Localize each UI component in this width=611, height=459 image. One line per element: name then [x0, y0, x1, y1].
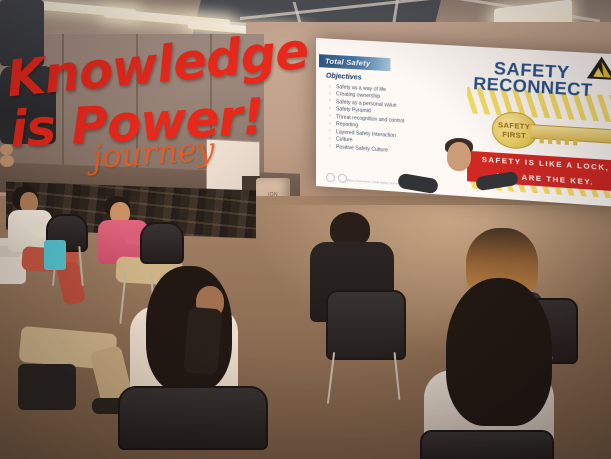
- wall-seam: [62, 34, 64, 184]
- slide-logo-group: [326, 173, 347, 183]
- photo-screenshot: ION Total Safety Culture Objectives Safe…: [0, 0, 611, 459]
- chair-back: [118, 386, 268, 450]
- wall-seam: [136, 34, 138, 184]
- presenter-right-hand: [0, 155, 14, 167]
- chair-back: [140, 222, 184, 264]
- triangle-logo-icon: [586, 55, 611, 81]
- slide: Total Safety Culture Objectives Safety a…: [316, 38, 611, 207]
- projection-screen: Total Safety Culture Objectives Safety a…: [316, 38, 611, 207]
- slide-header-bar: Total Safety Culture: [319, 54, 391, 71]
- chair-back: [326, 290, 406, 360]
- presenter: [0, 0, 56, 167]
- key-label-bottom: FIRST: [502, 130, 526, 141]
- bag: [44, 240, 66, 270]
- org-logo-icon: [326, 173, 335, 183]
- slide-left-panel: Total Safety Culture Objectives Safety a…: [316, 38, 470, 197]
- hair: [446, 278, 552, 426]
- chair-back: [420, 430, 554, 459]
- scarf: [183, 307, 223, 376]
- presenter-torso: [0, 66, 56, 144]
- presenter-left-hand: [0, 144, 13, 155]
- hair: [330, 212, 370, 246]
- presenter-legs: [0, 0, 44, 66]
- presenter-head: [447, 142, 471, 171]
- bag: [18, 364, 76, 410]
- key-teeth: [539, 136, 581, 146]
